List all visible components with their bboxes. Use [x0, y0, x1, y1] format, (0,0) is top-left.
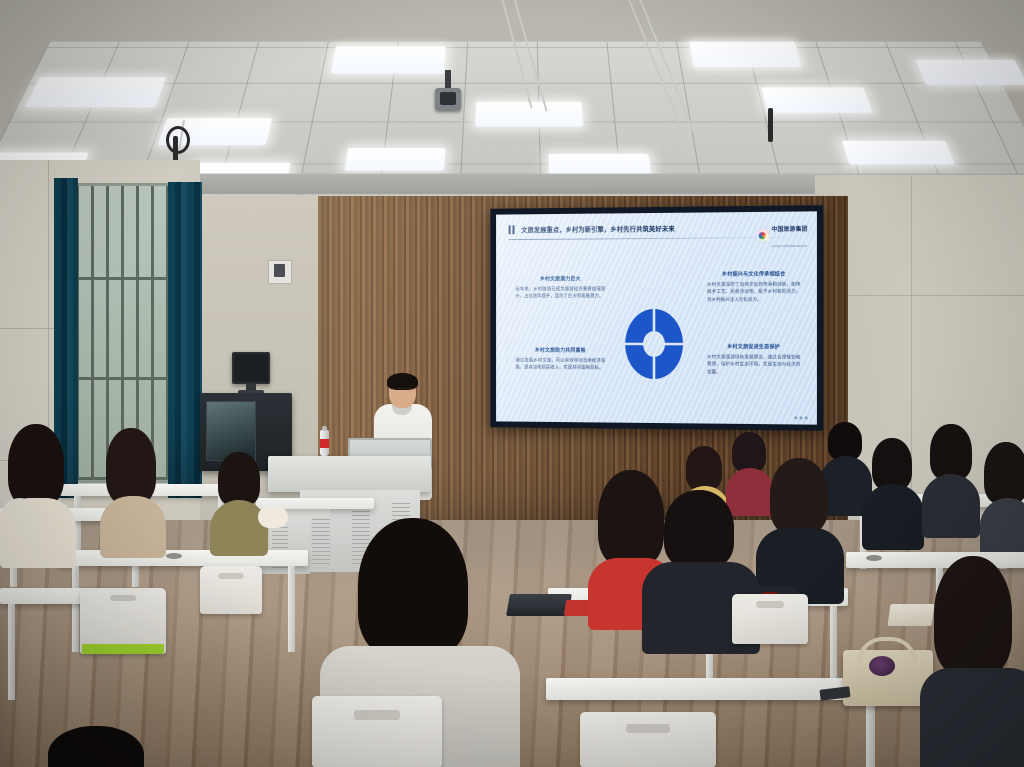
bottle-cap [322, 426, 327, 431]
person-arm [258, 506, 288, 528]
ceiling-light-panel [915, 60, 1024, 85]
cycle-ring-diagram [621, 305, 687, 383]
block-body: 乡村文旅强调绿色发展理念，通过合理规划和管理，保护乡村生态环境，实现生态与经济的… [707, 353, 800, 375]
chair [312, 696, 442, 767]
person-hair [770, 458, 828, 534]
chair [580, 712, 716, 767]
monitor-screen [234, 354, 268, 382]
block-heading: 乡村文旅助力共同富裕 [515, 347, 605, 354]
podium-top [268, 456, 431, 492]
person-torso [922, 474, 980, 538]
person-hair [598, 470, 664, 566]
ceiling-light-panel [25, 77, 166, 107]
person-hair [732, 432, 766, 472]
paper-pad [887, 604, 934, 626]
block-body: 近年来，乡村旅游已成为旅游经济重要组成部分，占比逐年提升，显示了巨大的发展潜力。 [515, 285, 605, 300]
logo-text-cn: 中国旅游集团 [772, 227, 808, 233]
logo-text: 中国旅游集团 CHINA TOURISM GROUP [772, 219, 808, 252]
desk-leg [830, 606, 837, 686]
glasses-icon [391, 388, 414, 394]
person-hair [106, 428, 156, 504]
person-hair [934, 556, 1012, 676]
conference-room-photo: 文旅发展重点，乡村为新引擎，乡村先行共筑美好未来 中国旅游集团 CHINA TO… [0, 0, 1024, 767]
person-hair [930, 424, 972, 480]
desk-leg [8, 604, 15, 700]
person-torso [0, 498, 40, 568]
curtain-right [168, 182, 202, 498]
logo-text-en: CHINA TOURISM GROUP [772, 245, 807, 248]
ceiling-hook-icon [768, 108, 773, 142]
slide-text-block: 乡村文旅促进生态保护 乡村文旅强调绿色发展理念，通过合理规划和管理，保护乡村生态… [707, 343, 800, 375]
brand-logo: 中国旅游集团 CHINA TOURISM GROUP [755, 219, 807, 252]
ceiling-light-panel [842, 141, 955, 165]
chair [200, 566, 262, 614]
water-bottle [320, 430, 329, 456]
block-body: 通过发展乡村文旅，可以有效带动当地经济发展，提高当地居民收入，实现共同富裕目标。 [515, 356, 605, 371]
tote-badge-icon [869, 656, 895, 676]
person-hair [872, 438, 912, 490]
title-bars-icon [509, 225, 517, 234]
block-heading: 乡村振兴与文化传承相结合 [707, 270, 800, 277]
person-hair [686, 446, 722, 490]
desk [846, 552, 1024, 568]
block-body: 乡村文旅深挖了当地文化的传承和创新，如传统手工艺、民俗活动等，赋予乡村新的活力，… [707, 280, 800, 302]
projection-screen: 文旅发展重点，乡村为新引擎，乡村先行共筑美好未来 中国旅游集团 CHINA TO… [490, 205, 823, 431]
desk-leg [72, 566, 79, 652]
ceiling-projector [435, 88, 461, 110]
chair [80, 588, 166, 654]
person-torso [920, 668, 1024, 767]
chair-handle-slot [756, 601, 784, 608]
chair [732, 594, 808, 644]
chair-handle-slot [354, 710, 400, 720]
slide-text-block: 乡村振兴与文化传承相结合 乡村文旅深挖了当地文化的传承和创新，如传统手工艺、民俗… [707, 270, 800, 302]
person-hair [664, 490, 734, 568]
desk-leg [288, 566, 295, 652]
desk-grommet [866, 555, 882, 561]
ceiling-light-panel [761, 87, 872, 112]
person-hair [8, 424, 64, 506]
wall-speaker [268, 260, 292, 284]
person-hair [358, 518, 468, 658]
laptop[interactable] [506, 594, 572, 616]
person-hair [218, 452, 260, 506]
person-torso [210, 500, 268, 556]
slide-text-block: 乡村文旅助力共同富裕 通过发展乡村文旅，可以有效带动当地经济发展，提高当地居民收… [515, 347, 605, 372]
china-tourism-group-logo-icon [755, 229, 768, 242]
desk [58, 550, 308, 566]
slide-text-block: 乡村文旅潜力巨大 近年来，乡村旅游已成为旅游经济重要组成部分，占比逐年提升，显示… [515, 275, 605, 300]
desk-leg [866, 700, 875, 767]
ceiling-light-panel [331, 46, 446, 73]
chair-handle-slot [110, 595, 136, 601]
chair-handle-slot [626, 724, 670, 733]
slide-page-indicator [794, 416, 807, 419]
cabinet-glass-door [206, 401, 256, 461]
ceiling-light-panel [689, 42, 802, 67]
person-hair [984, 442, 1024, 504]
person-torso [100, 496, 166, 558]
block-heading: 乡村文旅促进生态保护 [707, 343, 800, 350]
control-monitor [232, 352, 270, 384]
person-hair [828, 422, 862, 460]
slide-title-text: 文旅发展重点，乡村为新引擎，乡村先行共筑美好未来 [521, 224, 675, 234]
slide-title: 文旅发展重点，乡村为新引擎，乡村先行共筑美好未来 [509, 223, 736, 234]
bottle-label [320, 439, 329, 448]
slide-surface: 文旅发展重点，乡村为新引擎，乡村先行共筑美好未来 中国旅游集团 CHINA TO… [496, 211, 817, 424]
ceiling-light-panel [344, 148, 445, 170]
person-torso [726, 468, 774, 516]
chair-handle-slot [218, 573, 244, 579]
person-torso [862, 484, 924, 550]
chair-seat-green [82, 644, 164, 654]
desk-grommet [166, 553, 182, 559]
block-heading: 乡村文旅潜力巨大 [515, 275, 605, 282]
